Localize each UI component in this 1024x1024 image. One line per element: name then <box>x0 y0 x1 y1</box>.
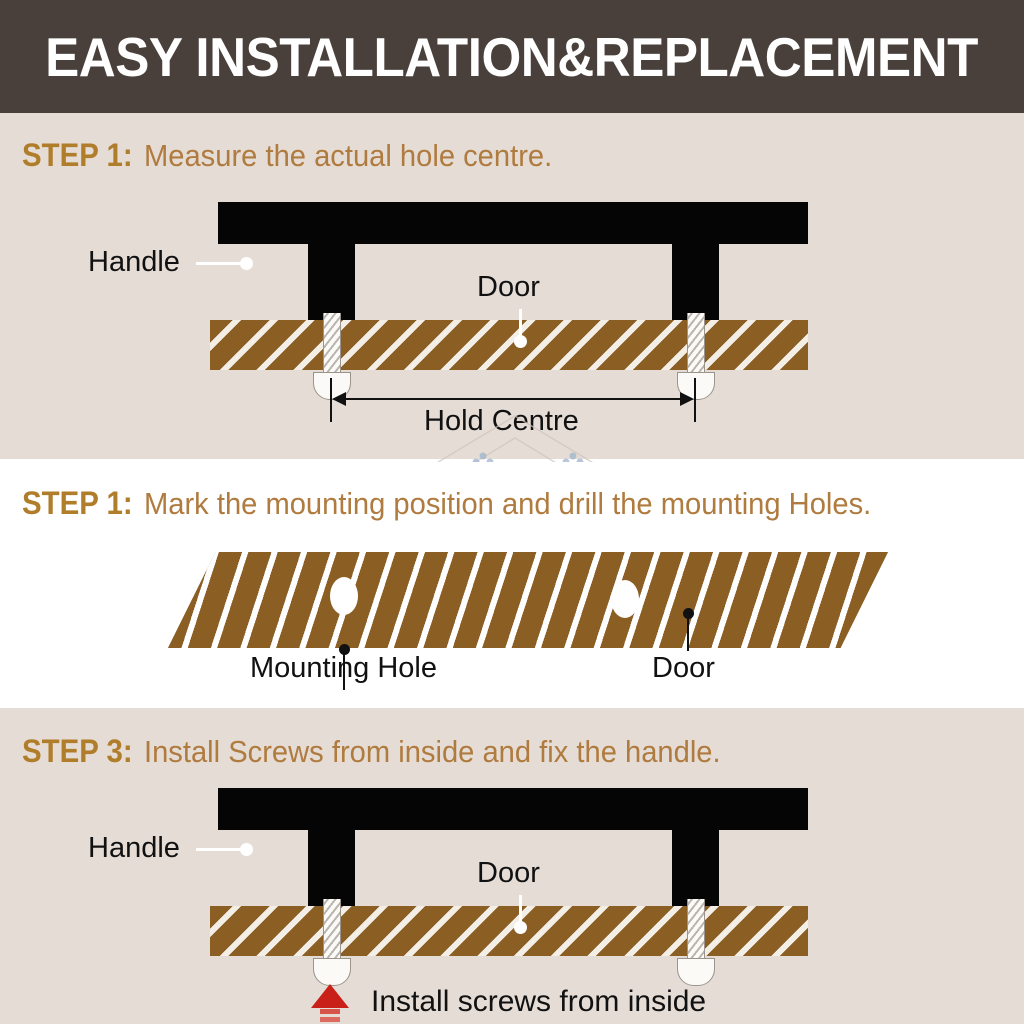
header-banner: EASY INSTALLATION&REPLACEMENT <box>0 0 1024 113</box>
step-2-label: STEP 1: <box>22 485 133 522</box>
door2-label: Door <box>652 652 715 685</box>
dimension-tick-right <box>694 378 696 422</box>
step-3-label: STEP 3: <box>22 733 133 770</box>
page-title: EASY INSTALLATION&REPLACEMENT <box>46 25 979 89</box>
screw-shaft <box>323 313 341 374</box>
arrow-tail <box>320 1009 340 1024</box>
door-leader-dot <box>514 335 527 348</box>
step-3-text: Install Screws from inside and fix the h… <box>144 734 721 770</box>
handle-leg-right <box>672 244 719 320</box>
handle-leader-dot <box>240 843 253 856</box>
door-panel <box>210 320 808 370</box>
step-1-heading: STEP 1: Measure the actual hole centre. <box>22 137 579 174</box>
screw-shaft <box>687 899 705 960</box>
handle-bar <box>218 788 808 830</box>
screw-shaft <box>323 899 341 960</box>
arrow-tail-bar <box>320 1009 340 1014</box>
handle-leg-right <box>672 830 719 906</box>
step-1-text: Measure the actual hole centre. <box>144 138 552 174</box>
step-2-text: Mark the mounting position and drill the… <box>144 486 871 522</box>
mounting-hole-label: Mounting Hole <box>250 652 437 685</box>
handle-leader-dot <box>240 257 253 270</box>
mounting-hole-left <box>330 577 358 615</box>
handle-leg-left <box>308 830 355 906</box>
screw-head <box>677 958 715 986</box>
arrow-tail-bar <box>320 1017 340 1022</box>
door-parallelogram <box>168 552 888 648</box>
door-leader-dot <box>514 921 527 934</box>
handle-label: Handle <box>88 832 180 865</box>
step-3-panel: STEP 3: Install Screws from inside and f… <box>0 708 1024 1024</box>
step-2-heading: STEP 1: Mark the mounting position and d… <box>22 485 918 522</box>
infographic-page: EASY INSTALLATION&REPLACEMENT STEP 1: Me… <box>0 0 1024 1024</box>
door-parallelogram-wrap <box>168 552 888 648</box>
door-label: Door <box>477 271 540 304</box>
handle-label: Handle <box>88 246 180 279</box>
step-1-panel: STEP 1: Measure the actual hole centre. … <box>0 113 1024 459</box>
handle-bar <box>218 202 808 244</box>
door-panel <box>210 906 808 956</box>
handle-leg-left <box>308 244 355 320</box>
screw-shaft <box>687 313 705 374</box>
step-1-label: STEP 1: <box>22 137 133 174</box>
mounting-hole-right <box>611 580 639 618</box>
dimension-label: Hold Centre <box>424 405 579 438</box>
door-label: Door <box>477 857 540 890</box>
dimension-arrow-left <box>332 392 346 406</box>
step-3-heading: STEP 3: Install Screws from inside and f… <box>22 733 758 770</box>
arrow-head <box>311 984 349 1008</box>
dimension-line <box>337 398 689 400</box>
dimension-arrow-right <box>680 392 694 406</box>
door2-leader-line <box>687 613 689 651</box>
install-note-label: Install screws from inside <box>371 985 706 1019</box>
screw-head <box>313 958 351 986</box>
